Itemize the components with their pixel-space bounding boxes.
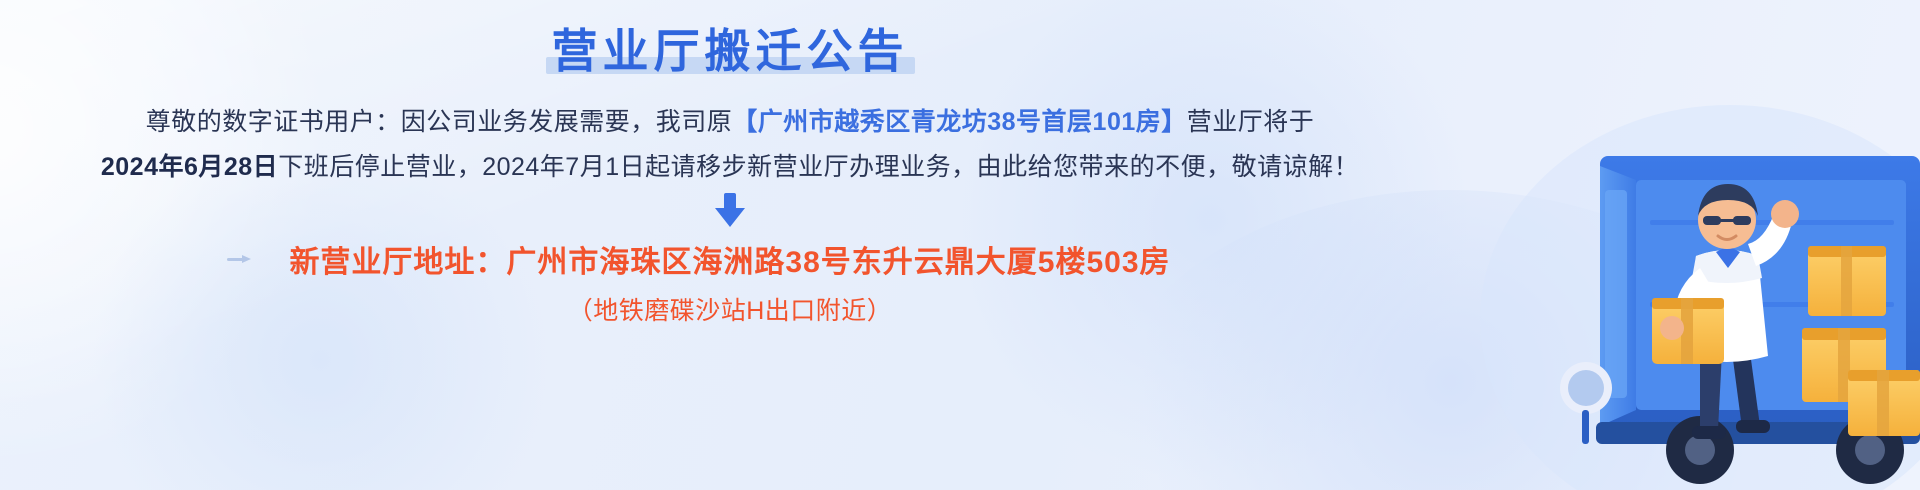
old-address-highlight: 【广州市越秀区青龙坊38号首层101房】 <box>732 108 1187 136</box>
notice-line-1: 尊敬的数字证书用户：因公司业务发展需要，我司原【广州市越秀区青龙坊38号首层10… <box>0 100 1460 146</box>
page-title: 营业厅搬迁公告 <box>552 26 909 78</box>
closing-date: 2024年6月28日 <box>101 153 278 181</box>
notice-paragraph: 尊敬的数字证书用户：因公司业务发展需要，我司原【广州市越秀区青龙坊38号首层10… <box>0 100 1460 191</box>
notice-line-1-tail: 营业厅将于 <box>1187 108 1315 136</box>
relocation-notice-banner: 营业厅搬迁公告 尊敬的数字证书用户：因公司业务发展需要，我司原【广州市越秀区青龙… <box>0 0 1920 490</box>
new-address-main: 新营业厅地址：广州市海珠区海洲路38号东升云鼎大厦5楼503房 <box>289 237 1170 281</box>
notice-line-1-lead: 尊敬的数字证书用户：因公司业务发展需要，我司原 <box>146 108 733 136</box>
notice-line-2: 2024年6月28日下班后停止营业，2024年7月1日起请移步新营业厅办理业务，… <box>0 145 1460 191</box>
arrow-down-icon <box>715 193 745 227</box>
arrow-row <box>0 193 1460 233</box>
delivery-truck-courier-illustration <box>1400 70 1920 490</box>
arrow-right-small-head <box>242 255 251 263</box>
notice-line-2-tail: 下班后停止营业，2024年7月1日起请移步新营业厅办理业务，由此给您带来的不便，… <box>278 153 1359 181</box>
banner-content: 营业厅搬迁公告 尊敬的数字证书用户：因公司业务发展需要，我司原【广州市越秀区青龙… <box>0 0 1460 490</box>
new-address-sub: （地铁磨碟沙站H出口附近） <box>289 291 1170 327</box>
page-title-wrapper: 营业厅搬迁公告 <box>552 26 909 78</box>
arrow-down-head <box>715 208 745 227</box>
arrow-right-small-icon <box>227 255 253 263</box>
new-address-block: 新营业厅地址：广州市海珠区海洲路38号东升云鼎大厦5楼503房 （地铁磨碟沙站H… <box>289 237 1170 327</box>
